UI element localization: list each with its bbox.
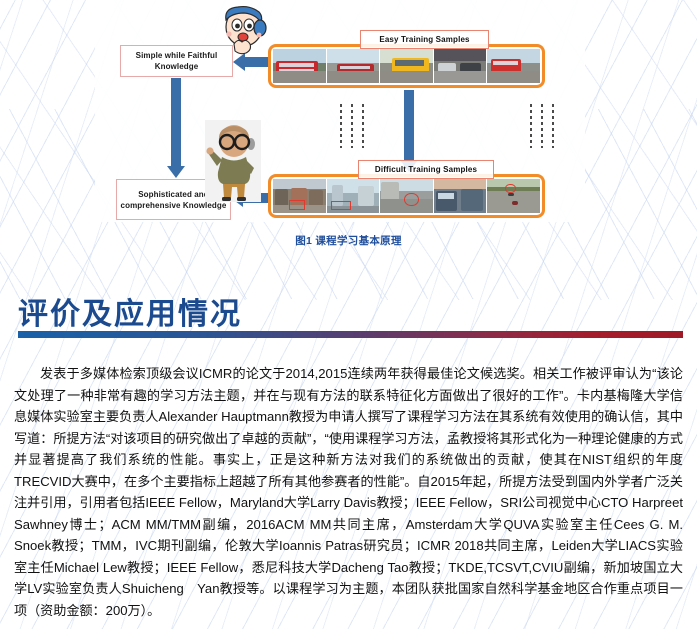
sample-image-city-square <box>273 179 326 213</box>
arrow-shaft <box>171 78 181 166</box>
page-title: 评价及应用情况 <box>18 289 242 333</box>
dotted-separator-right <box>530 104 554 148</box>
label-easy-training-samples: Easy Training Samples <box>360 30 489 49</box>
sample-image-highway <box>487 179 540 213</box>
body-paragraph: 发表于多媒体检索顶级会议ICMR的论文于2014,2015连续两年获得最佳论文候… <box>14 363 683 621</box>
dot-column <box>541 104 543 148</box>
sample-image-bus-interior <box>434 179 487 213</box>
professor-cartoon-icon <box>205 120 261 202</box>
sample-image-yellow-bus <box>380 49 433 83</box>
dot-column <box>530 104 532 148</box>
sample-image-motorcycle-road <box>380 179 433 213</box>
dotted-separator-left <box>340 104 364 148</box>
dot-column <box>552 104 554 148</box>
baby-cartoon-icon <box>216 4 272 56</box>
sample-image-fountain-buildings <box>327 179 380 213</box>
figure-caption: 图1 课程学习基本原理 <box>0 233 697 248</box>
easy-training-samples-strip <box>268 44 545 88</box>
arrow-head <box>167 166 185 178</box>
sample-image-bus-under-bridge <box>434 49 487 83</box>
dot-column <box>340 104 342 148</box>
sample-image-red-bus-street <box>327 49 380 83</box>
dot-column <box>362 104 364 148</box>
difficult-training-samples-strip <box>268 174 545 218</box>
arrow-shaft <box>404 90 414 160</box>
label-difficult-training-samples: Difficult Training Samples <box>358 160 494 179</box>
sample-image-red-bus-city <box>487 49 540 83</box>
heading-divider <box>18 331 683 338</box>
sample-image-red-double-decker-bus <box>273 49 326 83</box>
curriculum-learning-figure: Simple while Faithful Knowledge Sophisti… <box>0 0 697 262</box>
arrow-down-simple-to-sophisticated <box>165 78 187 178</box>
dot-column <box>351 104 353 148</box>
arrow-shaft <box>244 57 270 67</box>
